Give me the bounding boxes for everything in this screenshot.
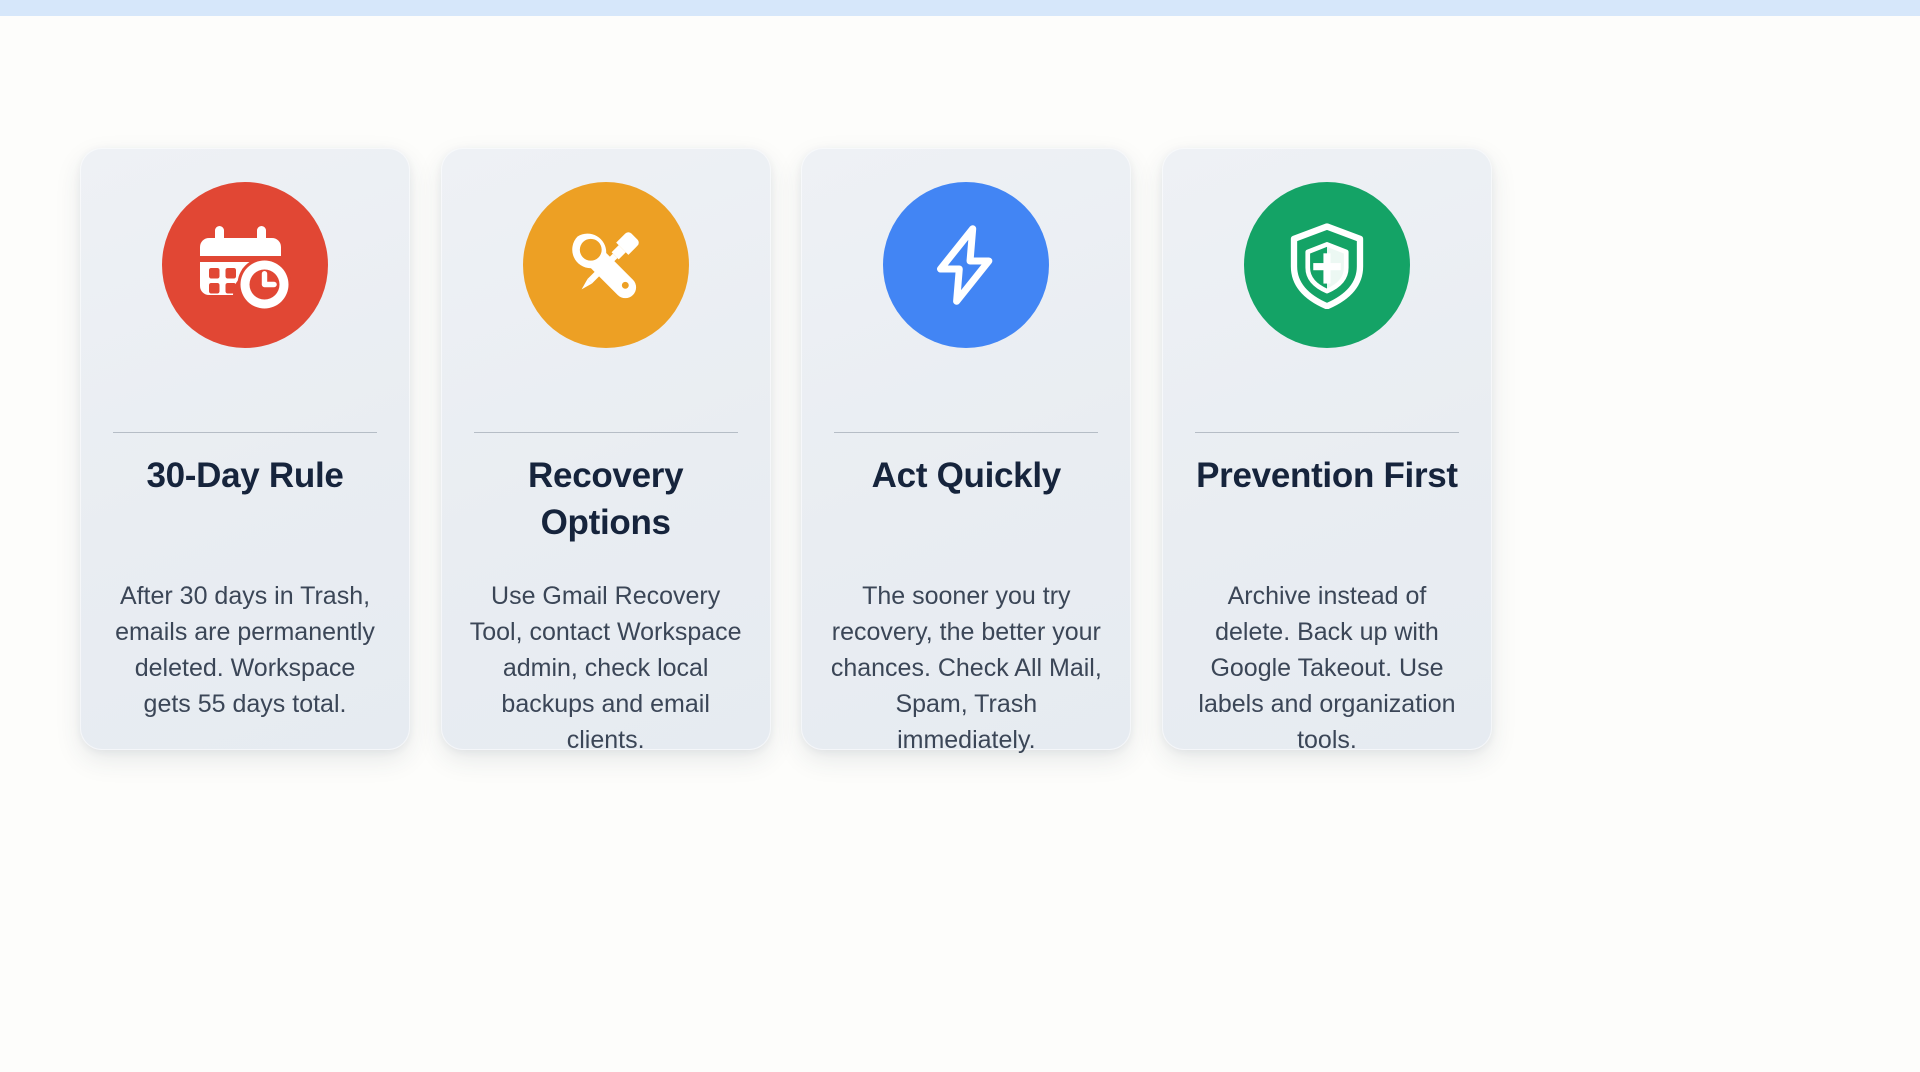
- card-30-day-rule[interactable]: 30-Day Rule After 30 days in Trash, emai…: [80, 148, 410, 750]
- calendar-clock-icon: [197, 217, 293, 313]
- card-body-anchor: After 30 days in Trash, emails are perma…: [80, 546, 410, 722]
- tools-icon: [560, 219, 652, 311]
- card-body: The sooner you try recovery, the better …: [830, 578, 1102, 758]
- card-title-anchor: Act Quickly: [801, 416, 1131, 499]
- card-recovery-options[interactable]: Recovery Options Use Gmail Recovery Tool…: [441, 148, 771, 750]
- card-body-anchor: The sooner you try recovery, the better …: [801, 546, 1131, 758]
- card-body-anchor: Archive instead of delete. Back up with …: [1162, 546, 1492, 758]
- card-title-anchor: 30-Day Rule: [80, 416, 410, 499]
- top-accent-strip: [0, 0, 1920, 16]
- card-body-anchor: Use Gmail Recovery Tool, contact Workspa…: [441, 546, 771, 758]
- card-body: Use Gmail Recovery Tool, contact Workspa…: [470, 578, 742, 758]
- card-title: Prevention First: [1196, 452, 1458, 499]
- card-title: 30-Day Rule: [146, 452, 343, 499]
- card-title-anchor: Recovery Options: [441, 416, 771, 546]
- lightning-bolt-icon-badge: [883, 182, 1049, 348]
- lightning-bolt-icon: [923, 222, 1009, 308]
- tools-icon-badge: [523, 182, 689, 348]
- card-body: Archive instead of delete. Back up with …: [1191, 578, 1463, 758]
- card-title-anchor: Prevention First: [1162, 416, 1492, 499]
- card-prevention-first[interactable]: Prevention First Archive instead of dele…: [1162, 148, 1492, 750]
- shield-check-icon: [1283, 221, 1371, 309]
- card-body: After 30 days in Trash, emails are perma…: [109, 578, 381, 722]
- card-act-quickly[interactable]: Act Quickly The sooner you try recovery,…: [801, 148, 1131, 750]
- feature-cards-row: 30-Day Rule After 30 days in Trash, emai…: [80, 148, 1492, 750]
- calendar-clock-icon-badge: [162, 182, 328, 348]
- shield-check-icon-badge: [1244, 182, 1410, 348]
- card-title: Act Quickly: [872, 452, 1061, 499]
- card-title: Recovery Options: [471, 452, 741, 546]
